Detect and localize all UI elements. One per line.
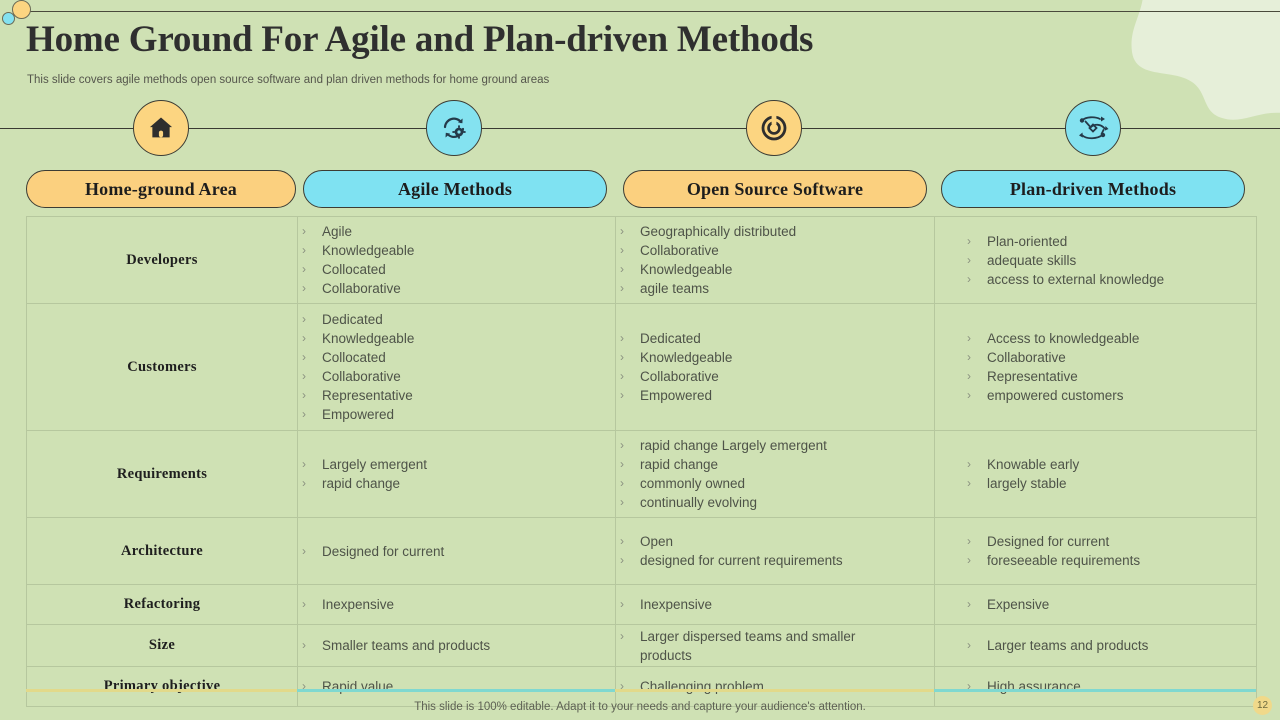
chevron-right-icon: › xyxy=(302,474,306,493)
row-label-requirements: Requirements xyxy=(27,431,298,518)
list-item: ›rapid change xyxy=(616,455,934,474)
chevron-right-icon: › xyxy=(620,222,624,241)
chevron-right-icon: › xyxy=(302,367,306,386)
accent-bar-home-ground-area xyxy=(26,689,297,692)
list-item: ›Knowledgeable xyxy=(616,348,934,367)
corner-blob-decoration xyxy=(1110,0,1280,130)
open-source-target-icon xyxy=(758,112,790,144)
decorative-dot-blue xyxy=(2,12,15,25)
chevron-right-icon: › xyxy=(302,348,306,367)
page-title: Home Ground For Agile and Plan-driven Me… xyxy=(26,18,813,61)
chevron-right-icon: › xyxy=(302,241,306,260)
chevron-right-icon: › xyxy=(620,455,624,474)
list-item: ›Access to knowledgeable xyxy=(963,329,1256,348)
chevron-right-icon: › xyxy=(620,260,624,279)
list-item: ›Collocated xyxy=(298,348,615,367)
chevron-right-icon: › xyxy=(302,222,306,241)
list-item: ›Expensive xyxy=(963,595,1256,614)
chevron-right-icon: › xyxy=(620,279,624,298)
slide-canvas: Home Ground For Agile and Plan-driven Me… xyxy=(0,0,1280,720)
list-item: ›access to external knowledge xyxy=(963,270,1256,289)
list-item: ›Representative xyxy=(298,386,615,405)
row-label-size: Size xyxy=(27,625,298,667)
agile-cycle-gear-icon xyxy=(438,112,470,144)
table-row: Refactoring ›Inexpensive ›Inexpensive ›E… xyxy=(27,585,1257,625)
chevron-right-icon: › xyxy=(967,455,971,474)
chevron-right-icon: › xyxy=(967,232,971,251)
list-item: ›agile teams xyxy=(616,279,934,298)
footer-note: This slide is 100% editable. Adapt it to… xyxy=(0,701,1280,713)
chevron-right-icon: › xyxy=(967,329,971,348)
list-item: ›Collaborative xyxy=(616,241,934,260)
chevron-right-icon: › xyxy=(620,532,624,551)
list-item: ›Geographically distributed xyxy=(616,222,934,241)
list-item: ›Open xyxy=(616,532,934,551)
chevron-right-icon: › xyxy=(302,677,306,696)
list-item: ›Smaller teams and products xyxy=(298,636,615,655)
chevron-right-icon: › xyxy=(620,627,624,646)
list-item: ›Designed for current xyxy=(298,542,615,561)
list-item: ›designed for current requirements xyxy=(616,551,934,570)
cell-agile-requirements: ›Largely emergent ›rapid change xyxy=(298,431,616,518)
list-item: ›Empowered xyxy=(616,386,934,405)
chevron-right-icon: › xyxy=(967,551,971,570)
chevron-right-icon: › xyxy=(302,310,306,329)
cell-open-source-developers: ›Geographically distributed ›Collaborati… xyxy=(616,217,935,304)
chevron-right-icon: › xyxy=(620,493,624,512)
chevron-right-icon: › xyxy=(620,386,624,405)
table-row: Size ›Smaller teams and products ›Larger… xyxy=(27,625,1257,667)
chevron-right-icon: › xyxy=(620,241,624,260)
cell-open-source-refactoring: ›Inexpensive xyxy=(616,585,935,625)
icon-pin-plan-driven-methods[interactable] xyxy=(1065,100,1121,156)
list-item: ›Knowledgeable xyxy=(298,329,615,348)
icon-pin-open-source-software[interactable] xyxy=(746,100,802,156)
chevron-right-icon: › xyxy=(302,386,306,405)
list-item: ›largely stable xyxy=(963,474,1256,493)
chevron-right-icon: › xyxy=(967,636,971,655)
list-item: ›commonly owned xyxy=(616,474,934,493)
row-label-customers: Customers xyxy=(27,304,298,431)
list-item: ›Largely emergent xyxy=(298,455,615,474)
list-item: ›Agile xyxy=(298,222,615,241)
chevron-right-icon: › xyxy=(302,636,306,655)
chevron-right-icon: › xyxy=(620,367,624,386)
list-item: ›foreseeable requirements xyxy=(963,551,1256,570)
list-item: ›Dedicated xyxy=(298,310,615,329)
list-item: ›Collocated xyxy=(298,260,615,279)
list-item: ›Challenging problem xyxy=(616,677,934,696)
page-number-badge: 12 xyxy=(1253,696,1272,715)
list-item: ›Collaborative xyxy=(963,348,1256,367)
chevron-right-icon: › xyxy=(620,436,624,455)
list-item: ›Collaborative xyxy=(616,367,934,386)
chevron-right-icon: › xyxy=(302,329,306,348)
cell-agile-customers: ›Dedicated ›Knowledgeable ›Collocated ›C… xyxy=(298,304,616,431)
chevron-right-icon: › xyxy=(620,329,624,348)
list-item: ›continually evolving xyxy=(616,493,934,512)
chevron-right-icon: › xyxy=(967,474,971,493)
chevron-right-icon: › xyxy=(620,595,624,614)
chevron-right-icon: › xyxy=(967,677,971,696)
cell-plan-driven-customers: ›Access to knowledgeable ›Collaborative … xyxy=(935,304,1257,431)
chevron-right-icon: › xyxy=(967,595,971,614)
cell-agile-architecture: ›Designed for current xyxy=(298,518,616,585)
chevron-right-icon: › xyxy=(620,474,624,493)
column-header-plan-driven-methods[interactable]: Plan-driven Methods xyxy=(941,170,1245,208)
list-item: ›empowered customers xyxy=(963,386,1256,405)
chevron-right-icon: › xyxy=(620,551,624,570)
icon-pin-agile-methods[interactable] xyxy=(426,100,482,156)
cell-plan-driven-size: ›Larger teams and products xyxy=(935,625,1257,667)
list-item: ›High assurance xyxy=(963,677,1256,696)
list-item: ›Collaborative xyxy=(298,367,615,386)
cell-open-source-architecture: ›Open ›designed for current requirements xyxy=(616,518,935,585)
list-item: ›Larger teams and products xyxy=(963,636,1256,655)
list-item: ›Knowledgeable xyxy=(298,241,615,260)
chevron-right-icon: › xyxy=(302,455,306,474)
chevron-right-icon: › xyxy=(967,386,971,405)
table-row: Customers ›Dedicated ›Knowledgeable ›Col… xyxy=(27,304,1257,431)
list-item: ›Designed for current xyxy=(963,532,1256,551)
list-item: ›Inexpensive xyxy=(616,595,934,614)
cell-open-source-requirements: ›rapid change Largely emergent ›rapid ch… xyxy=(616,431,935,518)
cell-plan-driven-architecture: ›Designed for current ›foreseeable requi… xyxy=(935,518,1257,585)
list-item: ›Dedicated xyxy=(616,329,934,348)
chevron-right-icon: › xyxy=(967,532,971,551)
chevron-right-icon: › xyxy=(302,405,306,424)
list-item: ›Empowered xyxy=(298,405,615,424)
list-item: ›Knowable early xyxy=(963,455,1256,474)
cell-plan-driven-requirements: ›Knowable early ›largely stable xyxy=(935,431,1257,518)
cell-plan-driven-refactoring: ›Expensive xyxy=(935,585,1257,625)
list-item: ›Representative xyxy=(963,367,1256,386)
accent-bar-plan-driven-methods xyxy=(934,689,1256,692)
row-label-developers: Developers xyxy=(27,217,298,304)
cell-agile-size: ›Smaller teams and products xyxy=(298,625,616,667)
chevron-right-icon: › xyxy=(620,348,624,367)
cell-plan-driven-developers: ›Plan-oriented ›adequate skills ›access … xyxy=(935,217,1257,304)
cell-agile-refactoring: ›Inexpensive xyxy=(298,585,616,625)
home-icon xyxy=(147,114,175,142)
column-header-open-source-software[interactable]: Open Source Software xyxy=(623,170,927,208)
chevron-right-icon: › xyxy=(967,251,971,270)
chevron-right-icon: › xyxy=(302,595,306,614)
icon-pin-home-ground-area[interactable] xyxy=(133,100,189,156)
comparison-table: Developers ›Agile ›Knowledgeable ›Colloc… xyxy=(26,216,1257,707)
cell-open-source-customers: ›Dedicated ›Knowledgeable ›Collaborative… xyxy=(616,304,935,431)
list-item: ›rapid change Largely emergent xyxy=(616,436,934,455)
chevron-right-icon: › xyxy=(967,367,971,386)
table-row: Requirements ›Largely emergent ›rapid ch… xyxy=(27,431,1257,518)
list-item: ›Rapid value xyxy=(298,677,615,696)
row-label-architecture: Architecture xyxy=(27,518,298,585)
column-header-home-ground-area[interactable]: Home-ground Area xyxy=(26,170,296,208)
chevron-right-icon: › xyxy=(967,270,971,289)
list-item: ›Inexpensive xyxy=(298,595,615,614)
list-item: ›Collaborative xyxy=(298,279,615,298)
cell-open-source-size: ›Larger dispersed teams and smaller prod… xyxy=(616,625,935,667)
cell-agile-developers: ›Agile ›Knowledgeable ›Collocated ›Colla… xyxy=(298,217,616,304)
row-label-refactoring: Refactoring xyxy=(27,585,298,625)
chevron-right-icon: › xyxy=(302,260,306,279)
table-row: Developers ›Agile ›Knowledgeable ›Colloc… xyxy=(27,217,1257,304)
list-item: ›rapid change xyxy=(298,474,615,493)
accent-bar-open-source-software xyxy=(615,689,934,692)
top-divider-rule xyxy=(24,11,1280,12)
chevron-right-icon: › xyxy=(620,677,624,696)
column-header-agile-methods[interactable]: Agile Methods xyxy=(303,170,607,208)
page-subtitle: This slide covers agile methods open sou… xyxy=(27,74,549,86)
table-row: Architecture ›Designed for current ›Open… xyxy=(27,518,1257,585)
chevron-right-icon: › xyxy=(967,348,971,367)
chevron-right-icon: › xyxy=(302,542,306,561)
list-item: ›Plan-oriented xyxy=(963,232,1256,251)
chevron-right-icon: › xyxy=(302,279,306,298)
list-item: ›Larger dispersed teams and smaller prod… xyxy=(616,627,910,665)
list-item: ›adequate skills xyxy=(963,251,1256,270)
plan-network-icon xyxy=(1076,113,1110,143)
list-item: ›Knowledgeable xyxy=(616,260,934,279)
accent-bar-agile-methods xyxy=(297,689,615,692)
